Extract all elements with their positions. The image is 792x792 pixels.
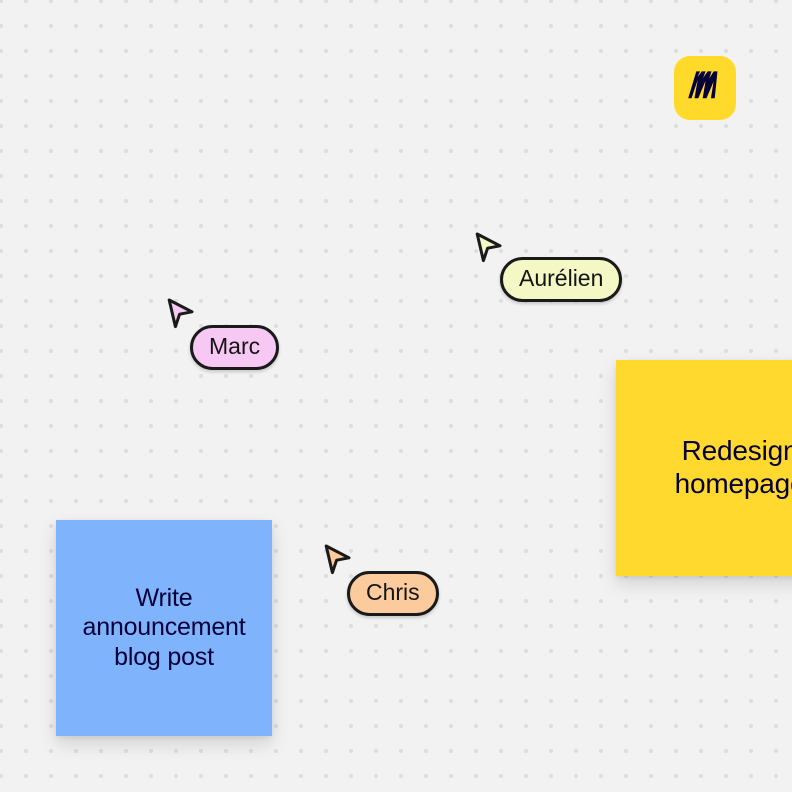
pointer-cursor-icon — [323, 543, 353, 579]
collaborator-name-badge: Marc — [190, 325, 279, 370]
pointer-cursor-icon — [474, 231, 504, 267]
miro-board-canvas[interactable]: Redesign homepage Write announcement blo… — [0, 0, 792, 792]
sticky-note-redesign-homepage[interactable]: Redesign homepage — [616, 360, 792, 576]
miro-logo[interactable] — [674, 56, 736, 120]
pointer-cursor-icon — [166, 297, 196, 333]
collaborator-name-badge: Aurélien — [500, 257, 622, 302]
sticky-note-write-announcement-blog-post[interactable]: Write announcement blog post — [56, 520, 272, 736]
collaborator-name-badge: Chris — [347, 571, 439, 616]
sticky-note-text: Redesign homepage — [675, 435, 792, 501]
miro-logo-icon — [684, 67, 726, 109]
sticky-note-text: Write announcement blog post — [82, 584, 245, 672]
